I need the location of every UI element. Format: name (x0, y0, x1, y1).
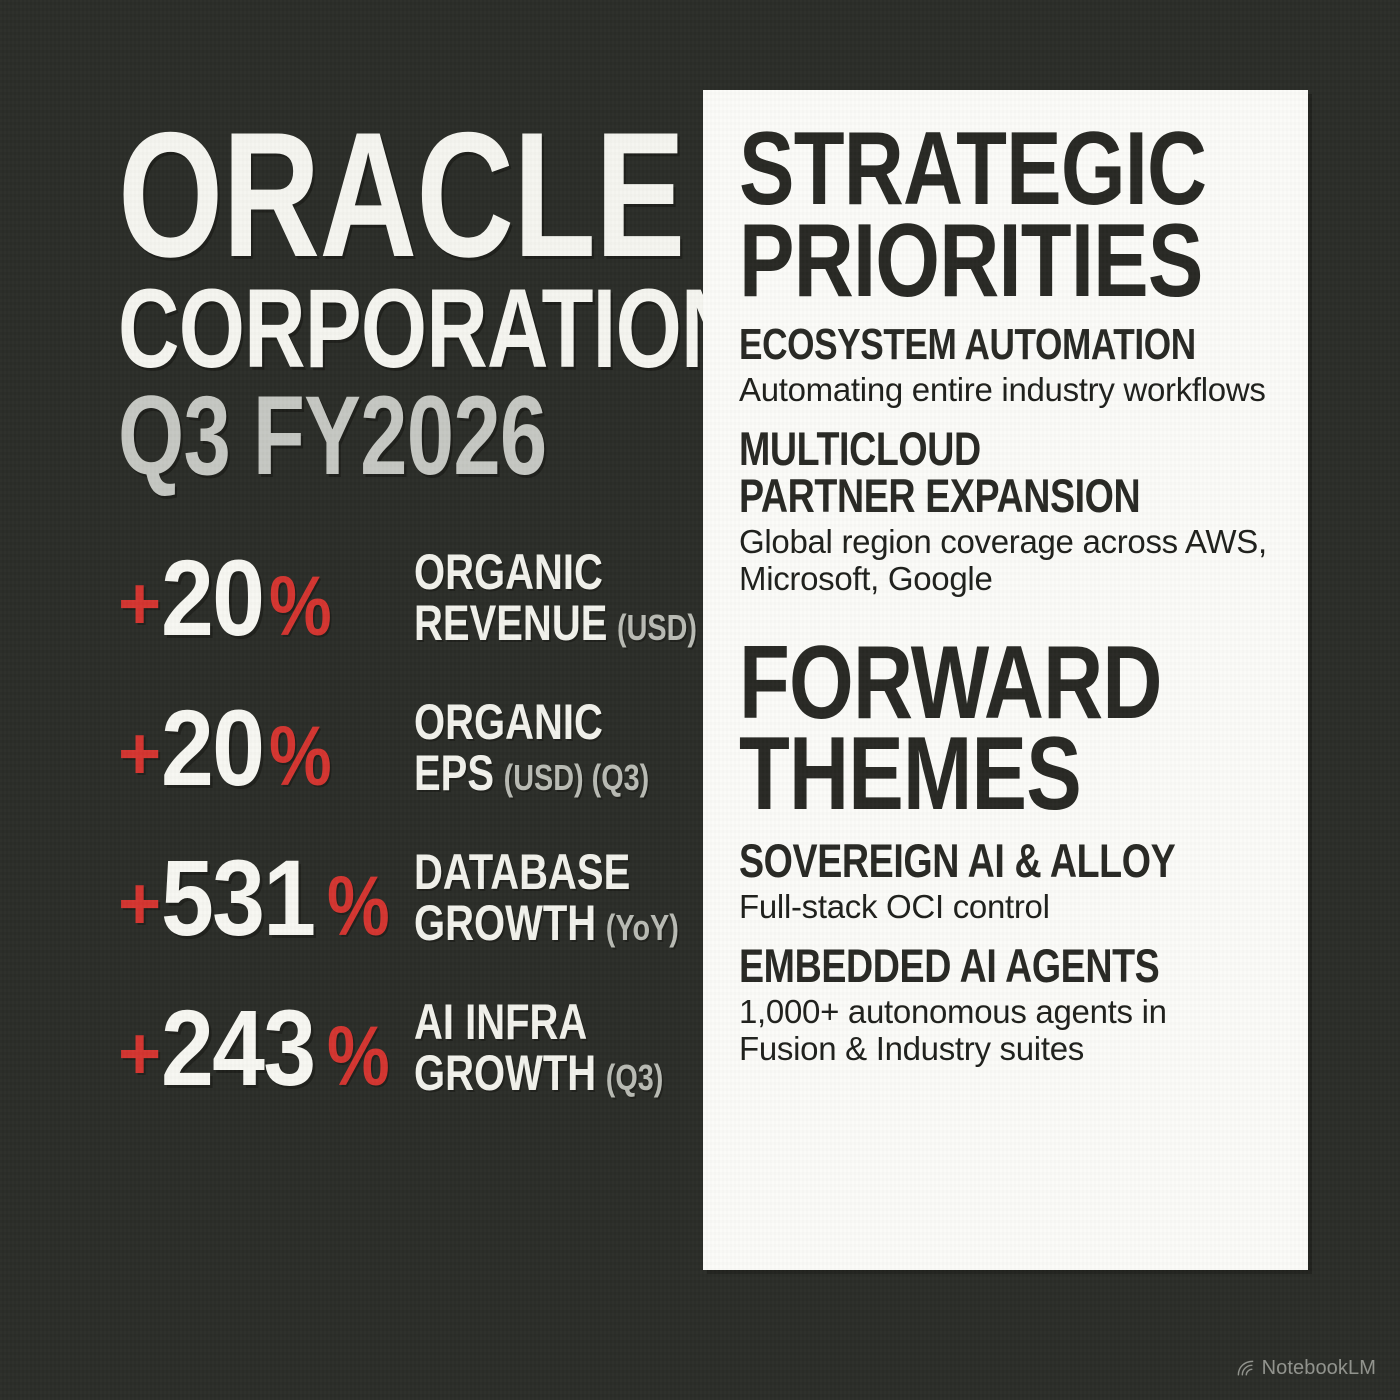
stat-value: 20 (161, 694, 263, 802)
heading-line-2: PRIORITIES (739, 216, 1165, 308)
stat-sign: + (118, 1017, 161, 1091)
stats-list: + 20 % ORGANIC REVENUE(USD) + 20 % (118, 536, 678, 1110)
item-title-line-1: ECOSYSTEM AUTOMATION (739, 323, 1165, 367)
forward-themes-heading: FORWARD THEMES (739, 638, 1272, 821)
stat-label-line-2: EPS(USD) (Q3) (414, 748, 649, 799)
notebooklm-label: NotebookLM (1262, 1357, 1376, 1380)
stat-label-text: REVENUE (414, 595, 607, 651)
stat-row: + 531 % DATABASE GROWTH(YoY) (118, 836, 678, 960)
stat-note: (Q3) (606, 1057, 664, 1098)
stat-sign: + (118, 567, 161, 641)
item-title-line-1: SOVEREIGN AI & ALLOY (739, 837, 1165, 884)
stat-note: (USD) (Q3) (504, 757, 650, 798)
stat-label-line-2: REVENUE(USD) (414, 598, 697, 649)
item-description: Full-stack OCI control (739, 888, 1272, 926)
stat-value: 243 (161, 994, 314, 1102)
stat-unit: % (327, 1014, 390, 1098)
stat-figure: + 243 % (118, 994, 408, 1102)
stat-figure: + 20 % (118, 544, 408, 652)
stat-label-text: GROWTH (414, 1045, 596, 1101)
stat-label: ORGANIC EPS(USD) (Q3) (408, 697, 708, 799)
theme-item-sovereign-ai-alloy: SOVEREIGN AI & ALLOY Full-stack OCI cont… (739, 837, 1272, 926)
infographic-canvas: ORACLE CORPORATION Q3 FY2026 + 20 % ORGA… (0, 0, 1400, 1400)
fiscal-period: Q3 FY2026 (118, 382, 544, 490)
company-name: ORACLE (118, 118, 544, 271)
notebooklm-icon (1236, 1359, 1255, 1378)
stat-row: + 20 % ORGANIC REVENUE(USD) (118, 536, 678, 660)
item-title-line-1: EMBEDDED AI AGENTS (739, 942, 1165, 989)
stat-label-line-1: AI INFRA (414, 997, 663, 1048)
stat-figure: + 531 % (118, 844, 408, 952)
stat-label-line-1: ORGANIC (414, 697, 649, 748)
stat-note: (USD) (617, 607, 697, 648)
stat-value: 531 (161, 844, 314, 952)
stat-label-line-2: GROWTH(YoY) (414, 898, 679, 949)
stat-label: AI INFRA GROWTH(Q3) (408, 997, 726, 1099)
stat-unit: % (327, 864, 390, 948)
strategic-priorities-heading: STRATEGIC PRIORITIES (739, 124, 1272, 307)
stat-figure: + 20 % (118, 694, 408, 802)
stat-sign: + (118, 867, 161, 941)
stat-label-line-2: GROWTH(Q3) (414, 1048, 663, 1099)
priority-item-multicloud-partner-expansion: MULTICLOUD PARTNER EXPANSION Global regi… (739, 425, 1272, 598)
notebooklm-watermark: NotebookLM (1236, 1357, 1376, 1380)
priorities-panel: STRATEGIC PRIORITIES ECOSYSTEM AUTOMATIO… (703, 90, 1308, 1270)
heading-line-2: THEMES (739, 729, 1165, 821)
stat-unit: % (269, 564, 332, 648)
stat-label-line-1: ORGANIC (414, 547, 697, 598)
stat-label-text: GROWTH (414, 895, 596, 951)
stat-label-line-1: DATABASE (414, 847, 679, 898)
item-description: 1,000+ autonomous agents in Fusion & Ind… (739, 993, 1272, 1068)
stat-note: (YoY) (606, 907, 679, 948)
stat-row: + 243 % AI INFRA GROWTH(Q3) (118, 986, 678, 1110)
item-description: Global region coverage across AWS, Micro… (739, 523, 1272, 598)
company-entity: CORPORATION (118, 277, 544, 380)
item-title-line-2: PARTNER EXPANSION (739, 472, 1165, 519)
priority-item-ecosystem-automation: ECOSYSTEM AUTOMATION Automating entire i… (739, 323, 1272, 409)
item-title-line-1: MULTICLOUD (739, 425, 1165, 472)
stat-label: DATABASE GROWTH(YoY) (408, 847, 745, 949)
left-column: ORACLE CORPORATION Q3 FY2026 + 20 % ORGA… (118, 118, 678, 1136)
stat-value: 20 (161, 544, 263, 652)
stat-row: + 20 % ORGANIC EPS(USD) (Q3) (118, 686, 678, 810)
stat-sign: + (118, 717, 161, 791)
stat-unit: % (269, 714, 332, 798)
theme-item-embedded-ai-agents: EMBEDDED AI AGENTS 1,000+ autonomous age… (739, 942, 1272, 1068)
stat-label-text: EPS (414, 745, 494, 801)
item-description: Automating entire industry workflows (739, 371, 1272, 409)
